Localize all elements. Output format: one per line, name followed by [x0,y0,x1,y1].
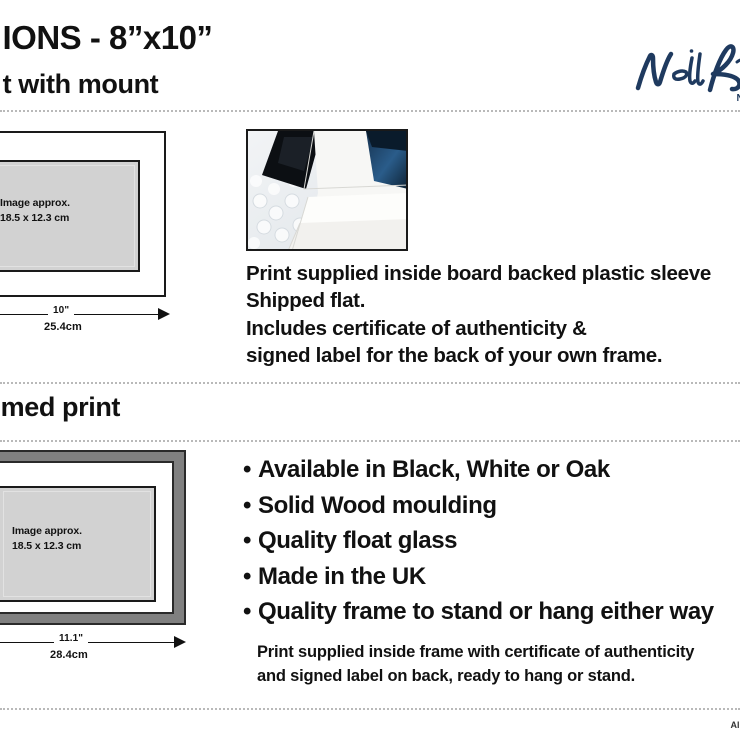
frame-note-line-2: and signed label on back, ready to hang … [257,664,694,688]
frame-bullet-5: Quality frame to stand or hang either wa… [258,598,714,625]
mount-caption-line-1: Image approx. [0,196,70,211]
mount-image-area: Image approx. 18.5 x 12.3 cm [0,160,140,272]
list-item: •Quality float glass [243,523,714,559]
mount-dimension-inches: 10" [48,305,74,316]
product-photo-mount [246,129,408,251]
frame-note-line-1: Print supplied inside frame with certifi… [257,640,694,664]
brand-logo: NB [634,44,740,106]
frame-note: Print supplied inside frame with certifi… [257,640,694,689]
frame-bullet-4: Made in the UK [258,563,426,590]
list-item: •Available in Black, White or Oak [243,452,714,488]
mount-diagram: Image approx. 18.5 x 12.3 cm [0,131,166,297]
list-item: •Quality frame to stand or hang either w… [243,594,714,630]
frame-feature-list: •Available in Black, White or Oak •Solid… [243,452,714,630]
mount-copy-line-4: signed label for the back of your own fr… [246,342,711,369]
frame-image-area: Image approx. 18.5 x 12.3 cm [0,486,156,602]
bullet-marker: • [243,492,251,519]
frame-dimension-inches: 11.1" [54,633,88,644]
frame-caption-line-1: Image approx. [12,524,82,539]
frame-bullet-3: Quality float glass [258,527,457,554]
frame-mount-area: Image approx. 18.5 x 12.3 cm [0,461,174,614]
footer-text: All [730,720,740,730]
page-subtitle: …t with mount [0,70,158,100]
frame-bullet-1: Available in Black, White or Oak [258,456,610,483]
logo-monogram: NB [737,93,740,104]
divider-frame-top [0,382,740,384]
bullet-marker: • [243,598,251,625]
divider-header [0,110,740,112]
mount-dimension-cm: 25.4cm [44,321,82,333]
mount-caption-line-2: 18.5 x 12.3 cm [0,211,70,226]
bullet-marker: • [243,563,251,590]
bullet-marker: • [243,456,251,483]
mount-image-caption: Image approx. 18.5 x 12.3 cm [0,196,70,226]
list-item: •Made in the UK [243,559,714,595]
frame-dimension-cm: 28.4cm [50,649,88,661]
mount-copy-line-1: Print supplied inside board backed plast… [246,260,711,287]
bullet-marker: • [243,527,251,554]
divider-footer [0,708,740,710]
frame-image-caption: Image approx. 18.5 x 12.3 cm [12,524,82,554]
framed-print-diagram: Image approx. 18.5 x 12.3 cm [0,450,186,625]
frame-section-title: …med print [0,392,120,423]
divider-frame-bottom [0,440,740,442]
mount-copy-line-2: Shipped flat. [246,287,711,314]
list-item: •Solid Wood moulding [243,488,714,524]
mount-copy-line-3: Includes certificate of authenticity & [246,315,711,342]
mount-description: Print supplied inside board backed plast… [246,260,711,369]
page-title: …IONS - 8”x10” [0,20,212,56]
frame-caption-line-2: 18.5 x 12.3 cm [12,539,82,554]
frame-bullet-2: Solid Wood moulding [258,492,497,519]
